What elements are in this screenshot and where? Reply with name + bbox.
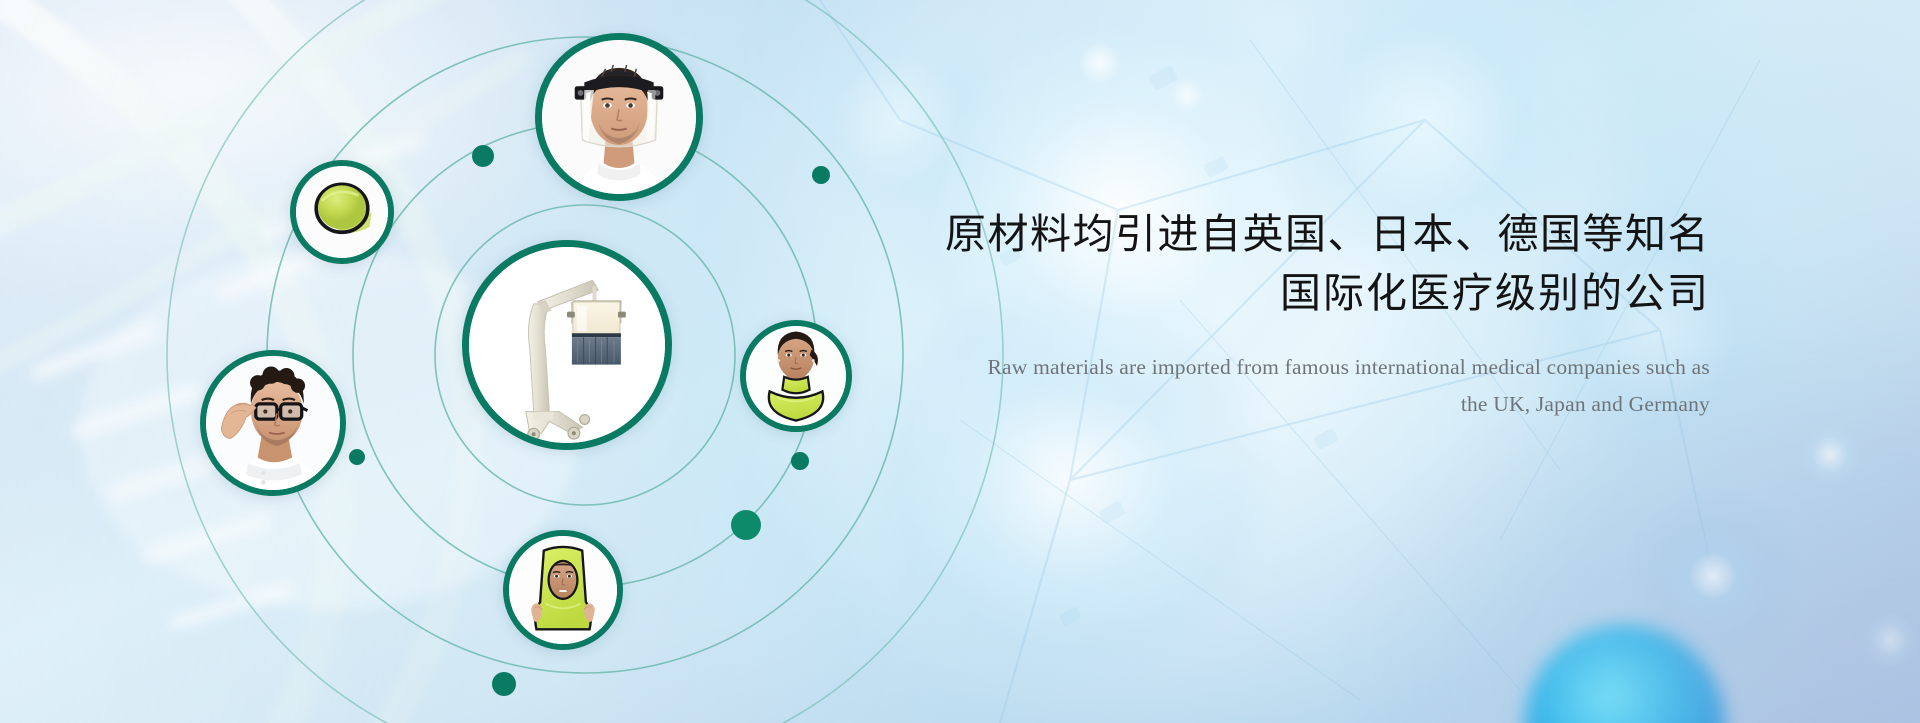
orbit-dot-top-left	[472, 145, 494, 167]
bubble-mobile-xray-shield[interactable]	[462, 240, 672, 450]
cyan-sphere-accent	[1525, 625, 1725, 723]
protective-hood-photo	[509, 536, 617, 644]
orbit-dot-bottom	[492, 672, 516, 696]
orbit-dot-center-low	[731, 510, 761, 540]
subtitle-line-2: the UK, Japan and Germany	[900, 386, 1710, 423]
subtitle-block: Raw materials are imported from famous i…	[900, 349, 1710, 423]
subtitle-line-1: Raw materials are imported from famous i…	[900, 349, 1710, 386]
hero-text-block: 原材料均引进自英国、日本、德国等知名 国际化医疗级别的公司 Raw materi…	[900, 205, 1710, 423]
bubble-lead-protective-cap[interactable]	[290, 160, 394, 264]
headline-line-2: 国际化医疗级别的公司	[900, 264, 1710, 323]
bubble-lead-glasses[interactable]	[200, 350, 346, 496]
face-shield-photo	[542, 40, 696, 194]
lead-glasses-photo	[206, 356, 340, 490]
lead-cap-photo	[296, 166, 388, 258]
mobile-xray-shield-photo	[469, 247, 665, 443]
orbit-dot-right	[791, 452, 809, 470]
hero-banner: 原材料均引进自英国、日本、德国等知名 国际化医疗级别的公司 Raw materi…	[0, 0, 1920, 723]
orbit-dot-left	[349, 449, 365, 465]
bubble-radiation-face-shield[interactable]	[535, 33, 703, 201]
bubble-thyroid-collar[interactable]	[740, 320, 852, 432]
headline-line-1: 原材料均引进自英国、日本、德国等知名	[900, 205, 1710, 264]
orbit-dot-upper-right	[812, 166, 830, 184]
thyroid-collar-photo	[746, 326, 846, 426]
bubble-protective-hood[interactable]	[503, 530, 623, 650]
